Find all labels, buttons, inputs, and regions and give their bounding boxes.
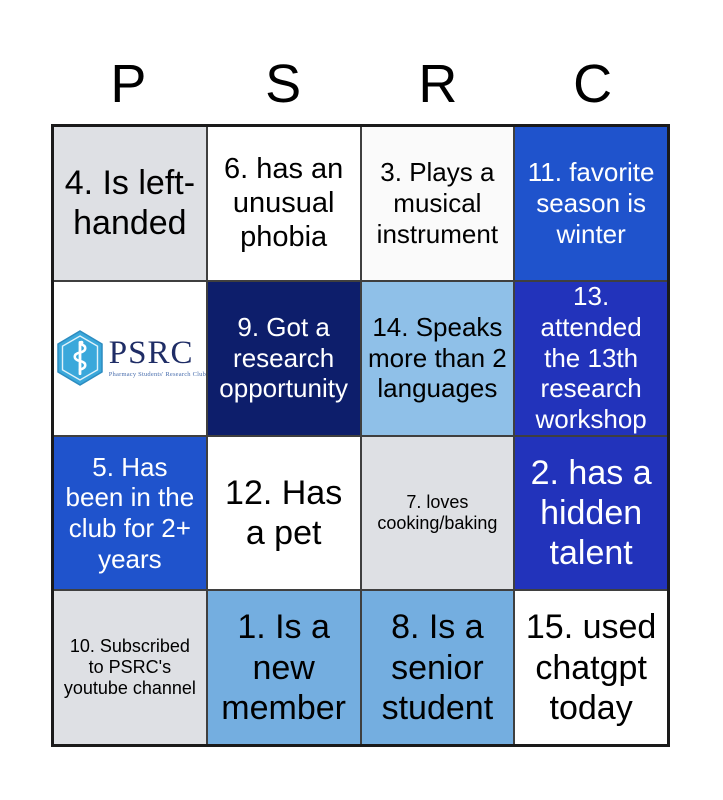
bingo-cell-label: 6. has an unusual phobia [214, 152, 354, 255]
header-letter-1: P [51, 57, 206, 111]
psrc-logo-tagline: Pharmacy Students' Research Club [109, 372, 206, 379]
header-letter-2: S [206, 57, 361, 111]
bingo-cell-logo[interactable]: PSRCPharmacy Students' Research Club [54, 282, 206, 435]
bingo-cell[interactable]: 12. Has a pet [208, 437, 360, 590]
bingo-cell-label: 3. Plays a musical instrument [368, 157, 508, 249]
bingo-cell[interactable]: 2. has a hidden talent [515, 437, 667, 590]
bingo-cell[interactable]: 6. has an unusual phobia [208, 127, 360, 280]
bingo-cell-label: 12. Has a pet [214, 473, 354, 553]
bingo-cell[interactable]: 8. Is a senior student [362, 591, 514, 744]
bingo-cell-label: 14. Speaks more than 2 languages [368, 312, 508, 404]
bingo-cell-label: 10. Subscribed to PSRC's youtube channel [60, 636, 200, 700]
bingo-cell[interactable]: 14. Speaks more than 2 languages [362, 282, 514, 435]
psrc-logo: PSRCPharmacy Students' Research Club [54, 329, 206, 387]
bingo-cell[interactable]: 9. Got a research opportunity [208, 282, 360, 435]
bingo-cell-label: 9. Got a research opportunity [214, 312, 354, 404]
rod-of-asclepius-hexagon-icon [54, 329, 106, 387]
bingo-cell-label: 5. Has been in the club for 2+ years [60, 452, 200, 575]
bingo-cell[interactable]: 11. favorite season is winter [515, 127, 667, 280]
bingo-cell[interactable]: 13. attended the 13th research workshop [515, 282, 667, 435]
bingo-cell-label: 7. loves cooking/baking [368, 492, 508, 534]
header-letter-3: R [361, 57, 516, 111]
psrc-logo-text: PSRCPharmacy Students' Research Club [109, 337, 206, 379]
bingo-cell-label: 2. has a hidden talent [521, 453, 661, 573]
bingo-cell-label: 1. Is a new member [214, 607, 354, 727]
bingo-cell-label: 8. Is a senior student [368, 607, 508, 727]
bingo-cell[interactable]: 10. Subscribed to PSRC's youtube channel [54, 591, 206, 744]
bingo-cell[interactable]: 1. Is a new member [208, 591, 360, 744]
bingo-grid: 4. Is left-handed6. has an unusual phobi… [51, 124, 670, 747]
bingo-cell[interactable]: 15. used chatgpt today [515, 591, 667, 744]
bingo-cell-label: 13. attended the 13th research workshop [521, 282, 661, 435]
bingo-cell-label: 15. used chatgpt today [521, 607, 661, 727]
psrc-logo-wordmark: PSRC [109, 337, 194, 370]
bingo-cell-label: 4. Is left-handed [60, 163, 200, 243]
bingo-cell[interactable]: 7. loves cooking/baking [362, 437, 514, 590]
bingo-cell-label: 11. favorite season is winter [521, 157, 661, 249]
bingo-cell[interactable]: 3. Plays a musical instrument [362, 127, 514, 280]
header-letter-4: C [515, 57, 670, 111]
bingo-card: P S R C 4. Is left-handed6. has an unusu… [0, 0, 723, 800]
bingo-cell[interactable]: 5. Has been in the club for 2+ years [54, 437, 206, 590]
bingo-cell[interactable]: 4. Is left-handed [54, 127, 206, 280]
bingo-header-row: P S R C [51, 48, 670, 120]
